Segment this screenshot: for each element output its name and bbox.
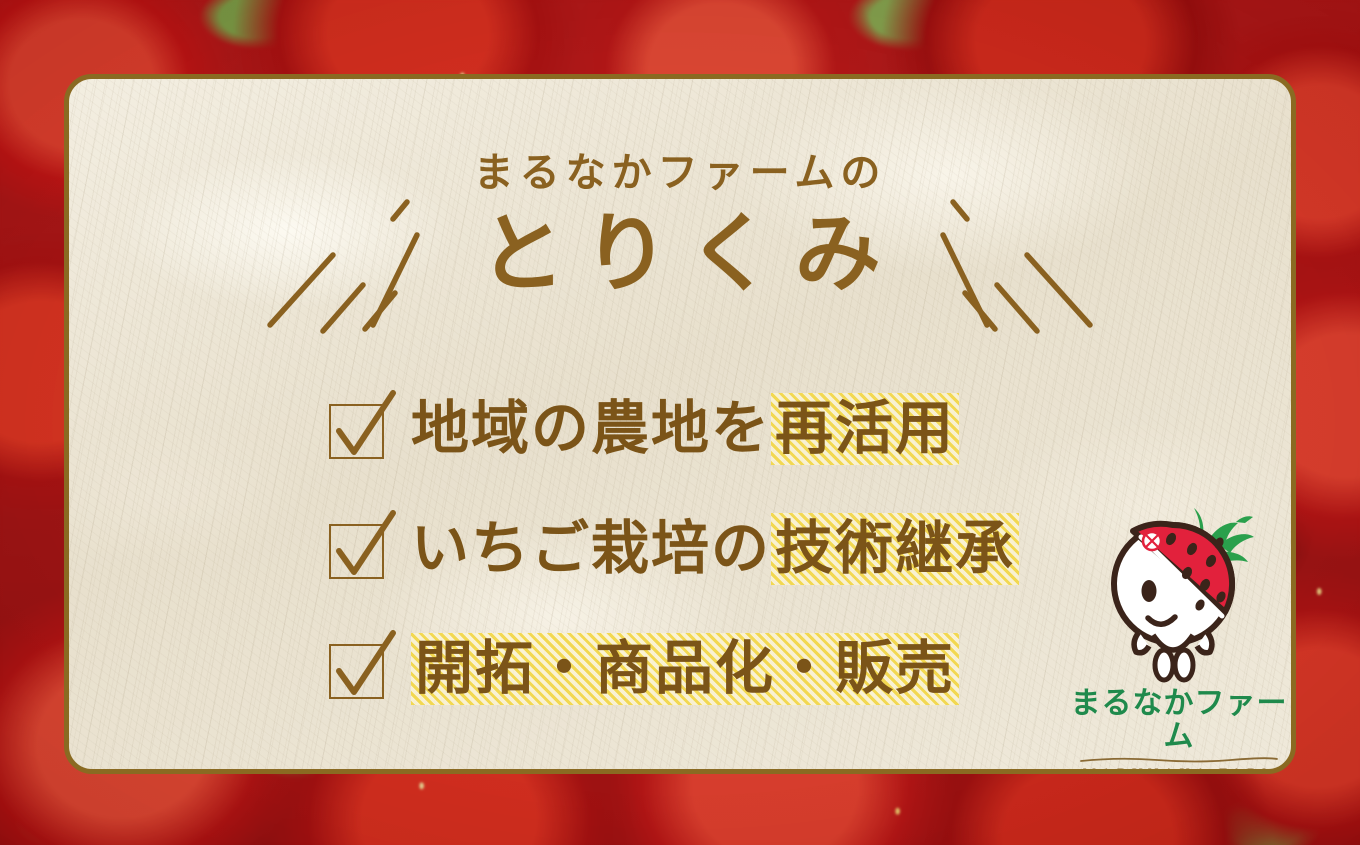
checklist-item-3-text: 開拓・商品化・販売 — [411, 633, 959, 705]
checkbox-checked-icon[interactable] — [325, 395, 393, 463]
title-block: まるなかファームの とりくみ — [69, 151, 1291, 309]
logo-divider — [1079, 756, 1279, 764]
logo-name-en: MARUNAKA FARM — [1069, 766, 1289, 774]
checkbox-checked-icon[interactable] — [325, 635, 393, 703]
title-subtitle: まるなかファームの — [69, 151, 1291, 195]
brand-logo[interactable]: まるなかファーム✔ MARUNAKA FARM — [1069, 499, 1289, 774]
checklist-item-1-highlight: 再活用 — [771, 393, 959, 465]
checklist-item-2-text: いちご栽培の技術継承 — [411, 513, 1019, 585]
checklist-item-2-plain: いちご栽培の — [411, 514, 771, 582]
logo-name-jp-text: まるなかファーム — [1071, 686, 1288, 754]
checklist: 地域の農地を再活用 いちご栽培の技術継承 開拓・商品 — [325, 369, 1019, 729]
checklist-item-3-highlight: 開拓・商品化・販売 — [411, 633, 959, 705]
logo-name-jp: まるなかファーム✔ — [1069, 687, 1289, 753]
checklist-item-1-plain: 地域の農地を — [411, 394, 771, 462]
page-title: とりくみ — [69, 201, 1291, 309]
poster-stage: まるなかファームの とりくみ 地域の農地を再活用 — [0, 0, 1360, 845]
content-card: まるなかファームの とりくみ 地域の農地を再活用 — [64, 74, 1296, 774]
checklist-item-3[interactable]: 開拓・商品化・販売 — [325, 609, 1019, 729]
checklist-item-1-text: 地域の農地を再活用 — [411, 393, 959, 465]
checklist-item-2-highlight: 技術継承 — [771, 513, 1019, 585]
checkbox-checked-icon[interactable] — [325, 515, 393, 583]
checklist-item-1[interactable]: 地域の農地を再活用 — [325, 369, 1019, 489]
strawberry-mascot-icon — [1095, 499, 1263, 685]
checklist-item-2[interactable]: いちご栽培の技術継承 — [325, 489, 1019, 609]
